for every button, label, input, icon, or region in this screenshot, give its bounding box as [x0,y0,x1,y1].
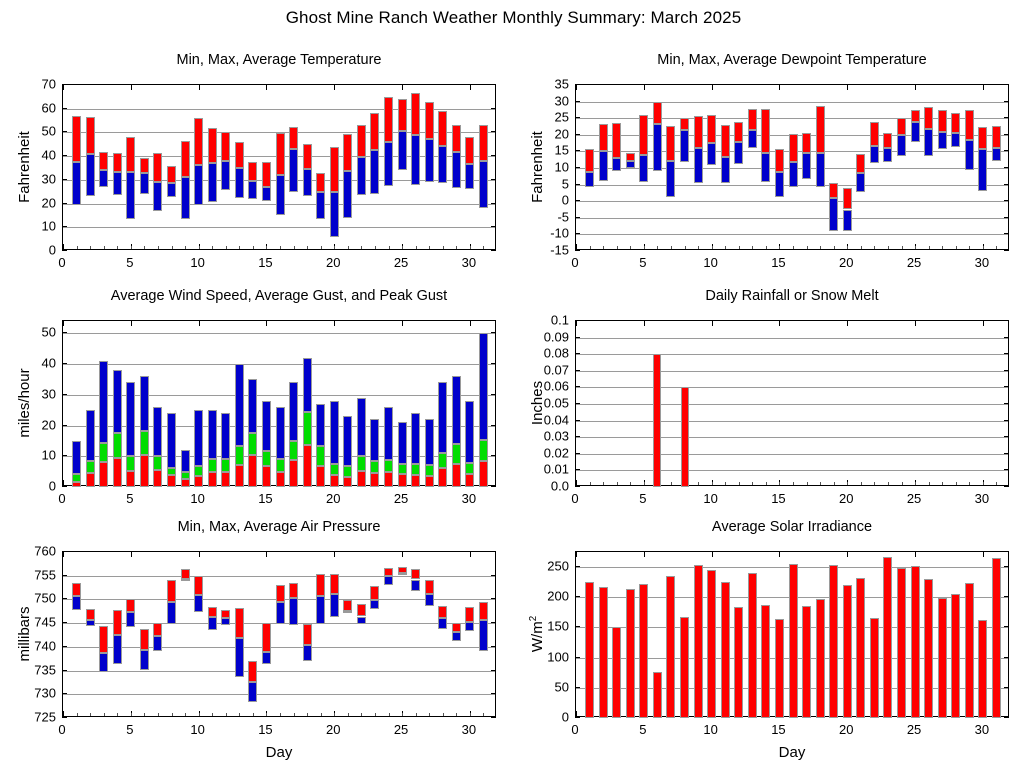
bar-day [626,589,635,718]
plot-area-solar [575,551,1009,717]
bar-day [194,85,203,251]
bar-seg-min-to-average [153,636,162,651]
gridline [576,658,1008,659]
y-tick [62,332,67,333]
bar-seg-max [734,122,743,142]
x-minor-tick [888,713,889,716]
y-tick-label: 0.04 [533,412,569,427]
bar-day [938,598,947,718]
x-tick [131,244,132,249]
bar-seg-average-gust [153,456,162,470]
x-minor-tick [117,246,118,249]
y-tick [575,657,580,658]
x-minor-tick [158,482,159,485]
x-tick [199,480,200,485]
bar-day [262,552,271,718]
bar-seg-average-gust [343,466,352,476]
y-tick-label: 0.06 [533,379,569,394]
bar-day [398,85,407,251]
x-tick [63,321,64,326]
x-minor-tick [617,246,618,249]
gridline [63,647,495,648]
x-tick [470,244,471,249]
bar-seg-min-to-average [181,579,190,581]
bar-day [465,321,474,487]
bar-seg-min-to-average [585,172,594,187]
y-tick-label: 30 [20,386,56,401]
bar-day [316,321,325,487]
x-minor-tick [144,482,145,485]
x-tick-label: 15 [258,491,272,506]
panel-wind: Average Wind Speed, Average Gust, and Pe… [0,0,1027,772]
y-tick-label: 0 [533,710,569,725]
x-minor-tick [820,246,821,249]
x-tick [63,85,64,90]
y-tick [1004,403,1009,404]
bar-seg-max [802,133,811,153]
bar-day [262,321,271,487]
x-minor-tick [307,482,308,485]
x-minor-tick [361,713,362,716]
bar-seg-min-to-average [343,171,352,219]
bar-day [465,85,474,251]
bar-seg-average-gust [221,459,230,471]
y-tick [62,622,67,623]
bar-day [153,321,162,487]
y-tick-label: 750 [20,591,56,606]
y-tick [491,717,496,718]
bar-day [748,85,757,251]
bar-seg-average-wind [72,482,81,487]
bar-day [425,552,434,718]
y-tick [575,717,580,718]
y-tick-label: 0.0 [533,479,569,494]
x-tick-label: 5 [126,491,133,506]
bar-day [761,605,770,718]
x-minor-tick [348,246,349,249]
x-minor-tick [630,246,631,249]
bar-day [897,85,906,251]
bar-seg-min-to-average [653,124,662,170]
bar-day [911,85,920,251]
bar-seg-max [248,162,257,181]
y-tick [491,131,496,132]
bar-seg-max [911,110,920,122]
bar-seg-max [208,128,217,164]
y-tick [62,551,67,552]
y-tick [1004,386,1009,387]
x-tick [402,552,403,557]
x-minor-tick [199,482,200,485]
bar-day [343,321,352,487]
x-tick-label: 15 [771,491,785,506]
bar-day [208,85,217,251]
x-minor-tick [983,713,984,716]
x-minor-tick [874,482,875,485]
bar-day [775,85,784,251]
x-minor-tick [766,713,767,716]
x-tick-label: 20 [839,491,853,506]
bar-seg-min-to-average [666,161,675,198]
x-minor-tick [253,482,254,485]
y-tick [491,84,496,85]
x-tick [983,244,984,249]
bar-seg-max [465,607,474,623]
x-minor-tick [253,713,254,716]
x-tick-label: 20 [326,255,340,270]
x-minor-tick [294,246,295,249]
gridline [63,204,495,205]
y-tick [62,693,67,694]
y-tick-label: 50 [20,325,56,340]
bar-seg-min-to-average [99,170,108,188]
bar-day [438,552,447,718]
x-tick [644,244,645,249]
x-minor-tick [253,246,254,249]
x-minor-tick [131,713,132,716]
x-minor-tick [793,482,794,485]
x-tick-label: 30 [975,491,989,506]
x-minor-tick [847,482,848,485]
y-tick-label: 10 [20,219,56,234]
bar-day [248,552,257,718]
gridline [63,599,495,600]
x-tick [470,711,471,716]
bar-day [194,552,203,718]
y-tick [491,646,496,647]
bar-seg-average-gust [411,464,420,475]
bar-day [167,321,176,487]
bar-seg-average-wind [398,474,407,487]
y-tick-label: 10 [533,160,569,175]
x-tick [847,480,848,485]
bar-day [126,321,135,487]
x-minor-tick [712,482,713,485]
bar-seg-min-to-average [411,580,420,591]
bar-seg-min-to-average [357,617,366,625]
x-tick [470,480,471,485]
weather-summary-page: Ghost Mine Ranch Weather Monthly Summary… [0,0,1027,772]
bar-seg-min-to-average [86,620,95,626]
bar-day [72,85,81,251]
bar-seg-min-to-average [789,162,798,187]
bar-day [585,85,594,251]
x-tick [402,244,403,249]
bar-day [153,552,162,718]
bar-seg-average-gust [289,441,298,460]
bar-seg-min-to-average [452,152,461,188]
bar-seg-max [694,116,703,148]
bar-seg-max [411,569,420,579]
bar-day [343,552,352,718]
bar-day [181,321,190,487]
bar-seg-max [978,127,987,149]
bar-seg-average-wind [330,475,339,487]
y-axis-title-wind: miles/hour [16,368,33,437]
bar-seg-min-to-average [438,146,447,183]
bar-seg-min-to-average [303,645,312,661]
bar-day [748,573,757,718]
y-tick [62,646,67,647]
x-minor-tick [671,713,672,716]
x-minor-tick [470,246,471,249]
gridline [63,364,495,365]
bar-day [479,552,488,718]
x-tick [712,552,713,557]
bar-seg-max [99,626,108,654]
bar-seg-max [303,144,312,169]
bar-seg-max [113,153,122,172]
x-minor-tick [239,246,240,249]
bar-seg-average-wind [452,464,461,487]
bar-seg-min-to-average [235,168,244,199]
bar-day [303,85,312,251]
bar-day [221,552,230,718]
bar-seg-peak-gust [411,413,420,463]
x-minor-tick [280,713,281,716]
bar-day [72,552,81,718]
gridline [63,426,495,427]
x-tick [576,552,577,557]
bars-solar [576,552,1008,716]
x-tick-label: 20 [326,722,340,737]
bar-day [425,85,434,251]
y-tick [491,575,496,576]
bar-seg-average-wind [194,476,203,487]
y-tick-label: 40 [20,148,56,163]
bar-seg-min-to-average [721,157,730,183]
x-tick-label: 0 [58,255,65,270]
x-tick-label: 10 [703,722,717,737]
x-minor-tick [375,713,376,716]
y-tick-label: 725 [20,710,56,725]
y-tick [491,551,496,552]
bars-temperature [63,85,495,249]
bar-day [816,85,825,251]
bar-seg-max [370,586,379,601]
y-tick-label: -15 [533,243,569,258]
bar-day [248,85,257,251]
panel-title-pressure: Min, Max, Average Air Pressure [62,519,496,535]
x-minor-tick [226,246,227,249]
bar-seg-max [276,585,285,602]
x-tick [983,321,984,326]
bar-seg-max [438,606,447,618]
bar-seg-min-to-average [775,172,784,198]
bar-seg-average-wind [181,479,190,487]
x-minor-tick [104,482,105,485]
x-minor-tick [902,482,903,485]
x-minor-tick [117,482,118,485]
x-minor-tick [280,246,281,249]
x-minor-tick [131,246,132,249]
bar-day [789,85,798,251]
x-tick [334,85,335,90]
bar-day [626,85,635,251]
y-tick [491,455,496,456]
bar-seg-peak-gust [276,407,285,459]
x-minor-tick [685,482,686,485]
y-tick [575,84,580,85]
bar-seg-average-gust [235,446,244,465]
bar-seg-average-gust [438,453,447,469]
x-tick [470,321,471,326]
x-minor-tick [902,246,903,249]
gridline [63,132,495,133]
bar-day [681,387,689,487]
gridline [576,102,1008,103]
y-tick-label: 20 [533,126,569,141]
x-minor-tick [739,482,740,485]
x-minor-tick [942,713,943,716]
bar-seg-min-to-average [343,611,352,613]
x-minor-tick [158,713,159,716]
x-tick [644,552,645,557]
x-tick [576,711,577,716]
bar-seg-average-wind [425,476,434,487]
y-tick [62,486,67,487]
x-minor-tick [117,713,118,716]
bar-day [843,585,852,718]
bar-seg-max [330,147,339,192]
y-tick [575,370,580,371]
x-tick [712,85,713,90]
bar-seg-max [992,126,1001,148]
bar-seg-min-to-average [113,635,122,663]
bar-seg-average-wind [465,474,474,487]
y-tick [575,150,580,151]
x-tick [402,480,403,485]
bar-seg-max [235,608,244,638]
x-tick-label: 15 [771,722,785,737]
x-minor-tick [617,713,618,716]
bar-day [951,594,960,718]
x-minor-tick [212,713,213,716]
bar-day [707,85,716,251]
bar-seg-min-to-average [316,596,325,624]
y-tick [575,117,580,118]
x-minor-tick [834,482,835,485]
x-tick-label: 15 [258,255,272,270]
x-tick [983,85,984,90]
bar-seg-peak-gust [316,404,325,446]
bar-seg-min-to-average [113,172,122,195]
x-minor-tick [766,246,767,249]
x-tick [334,480,335,485]
x-tick [131,552,132,557]
y-tick-label: -5 [533,209,569,224]
x-minor-tick [334,482,335,485]
bar-day [951,85,960,251]
y-tick [491,332,496,333]
bar-seg-max [856,154,865,173]
x-tick [779,321,780,326]
bar-day [870,618,879,718]
bar-seg-min-to-average [911,122,920,142]
bar-seg-peak-gust [479,333,488,440]
x-minor-tick [834,713,835,716]
y-tick-label: 10 [20,448,56,463]
bar-seg-average-gust [425,465,434,476]
bar-day [856,578,865,718]
panel-title-temperature: Min, Max, Average Temperature [62,52,496,68]
x-tick [334,711,335,716]
bar-seg-max [599,124,608,151]
bar-seg-min-to-average [425,139,434,181]
y-tick [62,598,67,599]
bar-seg-average-wind [343,477,352,487]
y-tick [1004,353,1009,354]
panel-solar: Average Solar Irradiance0501001502002500… [0,0,1027,772]
x-axis-title-pressure: Day [266,744,293,761]
bar-day [303,552,312,718]
x-tick [576,85,577,90]
x-tick-label: 0 [571,255,578,270]
x-minor-tick [348,713,349,716]
gridline [576,185,1008,186]
x-minor-tick [199,713,200,716]
bar-seg-average-wind [153,470,162,487]
x-tick-label: 25 [394,722,408,737]
gridline [576,437,1008,438]
y-tick-label: 20 [20,195,56,210]
y-tick [1004,717,1009,718]
bar-seg-peak-gust [167,413,176,468]
bar-seg-min-to-average [626,161,635,169]
bar-day [789,564,798,718]
x-minor-tick [172,482,173,485]
y-tick [575,436,580,437]
x-tick [712,480,713,485]
x-minor-tick [321,713,322,716]
y-tick [491,108,496,109]
x-tick [779,552,780,557]
bar-seg-average-gust [72,474,81,481]
bar-seg-min-to-average [167,602,176,623]
bar-seg-average-wind [113,458,122,487]
x-tick [63,552,64,557]
bar-seg-average-wind [357,471,366,487]
bar-day [653,354,661,487]
bar-seg-max [221,610,230,618]
x-minor-tick [603,713,604,716]
y-tick [575,337,580,338]
bar-seg-average-gust [194,466,203,476]
x-minor-tick [402,713,403,716]
x-tick [131,85,132,90]
x-tick [576,321,577,326]
page-title: Ghost Mine Ranch Weather Monthly Summary… [0,8,1027,28]
x-minor-tick [766,482,767,485]
x-minor-tick [929,246,930,249]
x-minor-tick [389,713,390,716]
x-minor-tick [348,482,349,485]
y-tick [491,670,496,671]
x-tick-label: 30 [975,722,989,737]
bar-seg-average-gust [330,464,339,475]
bar-seg-min-to-average [924,129,933,156]
bar-seg-peak-gust [289,382,298,440]
bar-seg-min-to-average [221,618,230,625]
bar-day [938,85,947,251]
y-tick-label: 50 [20,124,56,139]
bar-seg-max [167,580,176,603]
y-axis-title-temperature: Fahrenheit [16,131,33,203]
x-tick [915,480,916,485]
x-tick-label: 25 [394,491,408,506]
bar-seg-max [181,569,190,578]
gridline [63,156,495,157]
